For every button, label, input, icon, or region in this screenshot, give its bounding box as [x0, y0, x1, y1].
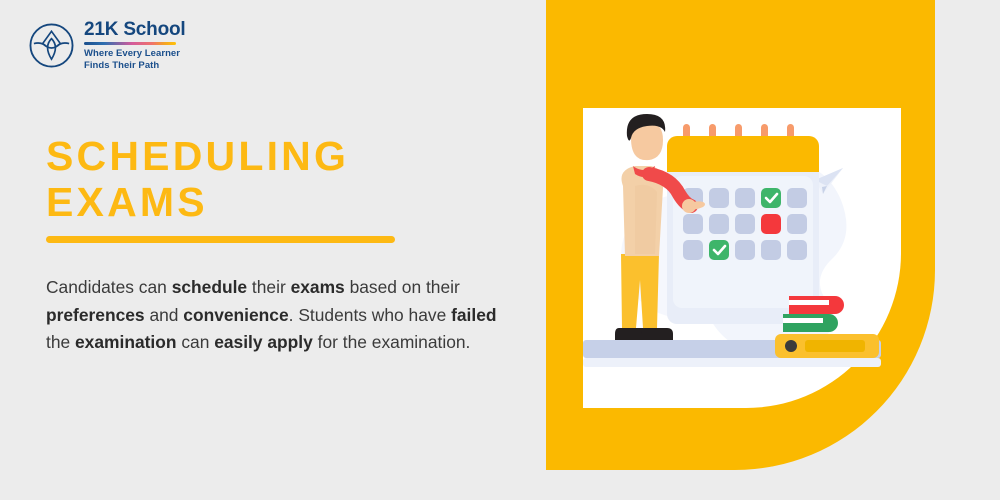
- body-paragraph: Candidates can schedule their exams base…: [46, 274, 498, 357]
- brand-logo: 21K School Where Every Learner Finds The…: [28, 18, 185, 72]
- body-text: can: [177, 332, 215, 352]
- brand-tagline-line2: Finds Their Path: [84, 60, 159, 71]
- emphasis-text: schedule: [172, 277, 247, 297]
- brand-name: 21K School: [84, 20, 185, 40]
- emphasis-text: easily apply: [214, 332, 313, 352]
- body-text: the: [46, 332, 75, 352]
- body-text: . Students who have: [289, 305, 451, 325]
- calendar-illustration: [583, 108, 901, 408]
- brand-gradient-rule: [84, 42, 176, 45]
- brand-tagline-line1: Where Every Learner: [84, 48, 180, 59]
- body-text: for the examination.: [313, 332, 471, 352]
- page-title: SCHEDULING EXAMS: [46, 134, 349, 226]
- emphasis-text: examination: [75, 332, 176, 352]
- lotus-circle-logo-icon: [28, 22, 75, 69]
- book-stack: [783, 296, 844, 332]
- body-text: and: [145, 305, 184, 325]
- body-text: their: [247, 277, 291, 297]
- emphasis-text: preferences: [46, 305, 145, 325]
- emphasis-text: exams: [291, 277, 345, 297]
- brand-tagline: Where Every Learner Finds Their Path: [84, 48, 185, 72]
- emphasis-text: convenience: [183, 305, 288, 325]
- body-text: Candidates can: [46, 277, 172, 297]
- emphasis-text: failed: [451, 305, 496, 325]
- title-divider: [46, 236, 395, 243]
- slide-canvas: 21K School Where Every Learner Finds The…: [0, 0, 1000, 500]
- body-text: based on their: [345, 277, 460, 297]
